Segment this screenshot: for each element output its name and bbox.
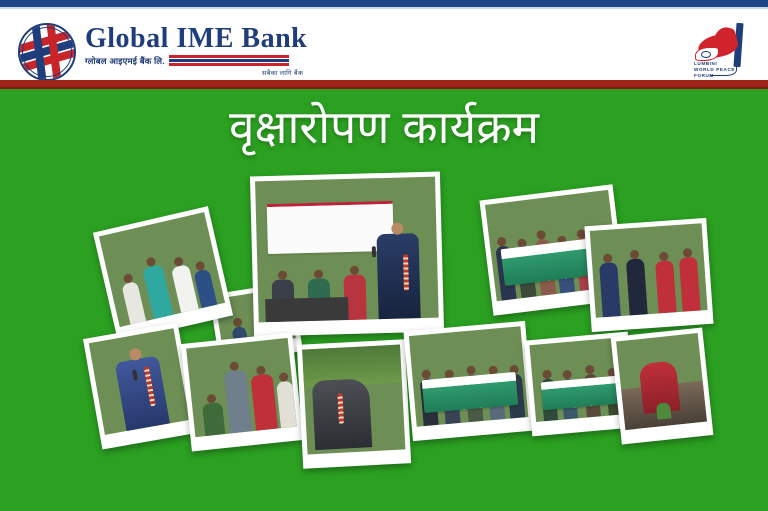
photo-image: वृक्षारोपण कार्यक्रम	[409, 326, 529, 426]
photo-image	[255, 177, 439, 323]
collage-photo	[611, 327, 714, 444]
page-title: वृक्षारोपण कार्यक्रम	[0, 99, 768, 155]
top-accent-stripe	[0, 0, 768, 7]
photo-image	[99, 212, 225, 327]
forum-wordmark: LUMBINI WORLD PEACE FORUM	[694, 61, 744, 79]
photo-collage: वृक्षारोपण कार्यक्रम	[0, 160, 768, 490]
photo-image	[186, 338, 297, 437]
forum-line-3: FORUM	[694, 73, 744, 79]
top-accent-stripe-shadow	[0, 7, 768, 9]
header-bar: Global IME Bank ग्लोबल आइएमई बैंक लि. सब…	[0, 9, 768, 80]
bank-logo: Global IME Bank ग्लोबल आइएमई बैंक लि. सब…	[18, 23, 307, 81]
bank-tagline-np: सबैका लागि बैंक	[85, 68, 303, 77]
collage-photo	[297, 339, 411, 468]
collage-photo	[93, 206, 233, 342]
global-ime-bank-emblem-icon	[18, 23, 76, 81]
photo-image	[590, 223, 708, 318]
bank-name-en: Global IME Bank	[85, 24, 307, 54]
dove-icon	[695, 47, 719, 61]
bank-wordmark: Global IME Bank ग्लोबल आइएमई बैंक लि. सब…	[85, 23, 307, 77]
header-divider-stripe	[0, 80, 768, 87]
header-divider-shadow	[0, 87, 768, 89]
collage-photo	[584, 218, 713, 332]
photo-image	[616, 333, 707, 430]
collage-photo	[83, 323, 197, 450]
bank-name-np: ग्लोबल आइएमई बैंक लि.	[85, 56, 165, 67]
photo-image	[302, 345, 405, 455]
bank-rule-bars	[169, 55, 289, 67]
lumbini-world-peace-forum-logo: LUMBINI WORLD PEACE FORUM	[692, 21, 750, 83]
poster-canvas: Global IME Bank ग्लोबल आइएमई बैंक लि. सब…	[0, 0, 768, 511]
collage-photo: वृक्षारोपण कार्यक्रम	[403, 321, 534, 441]
collage-photo	[181, 332, 304, 451]
photo-image	[89, 328, 190, 435]
collage-photo	[250, 172, 444, 337]
